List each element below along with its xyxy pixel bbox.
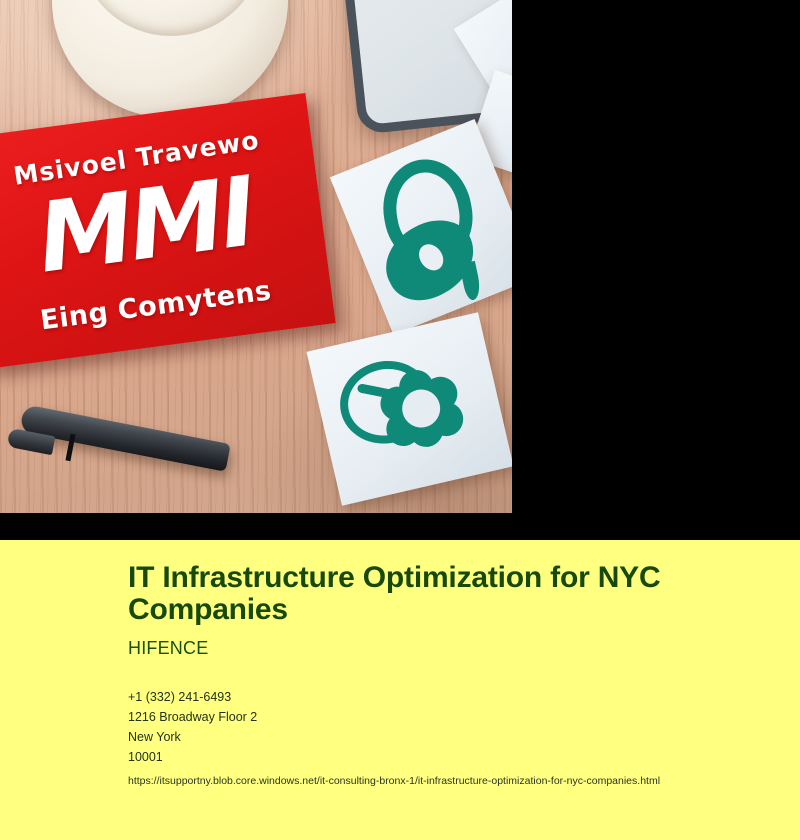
content-panel-inner: IT Infrastructure Optimization for NYC C… bbox=[0, 540, 800, 789]
contact-city: New York bbox=[128, 727, 740, 747]
hero-image: Msivoel Travewo MMI Eing Comytens bbox=[0, 0, 512, 513]
source-url[interactable]: https://itsupportny.blob.core.windows.ne… bbox=[128, 773, 740, 789]
contact-zip: 10001 bbox=[128, 747, 740, 767]
brand-name: HIFENCE bbox=[128, 638, 740, 659]
red-business-card: Msivoel Travewo MMI Eing Comytens bbox=[0, 93, 336, 369]
page-title: IT Infrastructure Optimization for NYC C… bbox=[128, 562, 740, 626]
page-root: Msivoel Travewo MMI Eing Comytens bbox=[0, 0, 800, 840]
contact-street: 1216 Broadway Floor 2 bbox=[128, 707, 740, 727]
contact-phone: +1 (332) 241-6493 bbox=[128, 687, 740, 707]
contact-block: +1 (332) 241-6493 1216 Broadway Floor 2 … bbox=[128, 687, 740, 767]
content-panel: IT Infrastructure Optimization for NYC C… bbox=[0, 540, 800, 840]
teal-tail-icon bbox=[459, 261, 483, 301]
